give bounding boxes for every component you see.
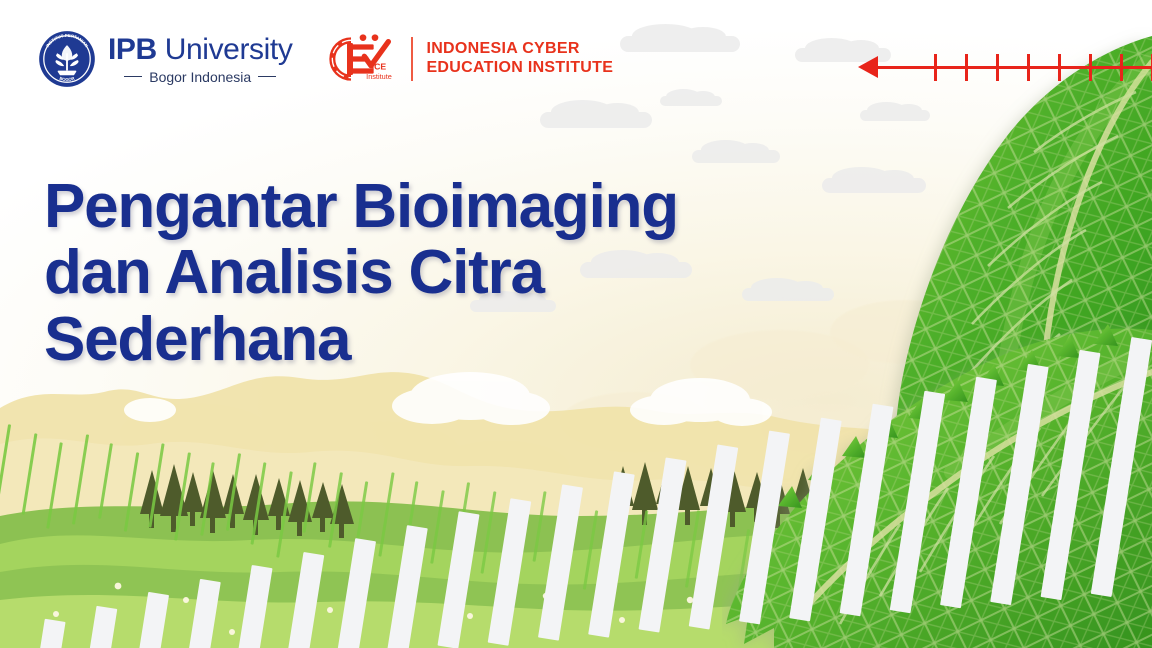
cloud-shape — [540, 112, 652, 128]
ice-mark-label-2: Institute — [367, 72, 393, 81]
ruler-tick — [1027, 54, 1030, 81]
ruler-tick — [965, 54, 968, 81]
ice-wordmark: INDONESIA CYBER EDUCATION INSTITUTE — [426, 40, 613, 77]
leaf-svg — [722, 0, 1152, 648]
title-line-1: Pengantar Bioimaging — [44, 174, 784, 241]
ipb-seal-icon: INSTITUT PERTANIAN BOGOR — [38, 30, 96, 88]
logo-row: INSTITUT PERTANIAN BOGOR IPB University … — [38, 30, 613, 88]
ruler-tick — [1089, 54, 1092, 81]
ipb-university-logo: INSTITUT PERTANIAN BOGOR IPB University … — [38, 30, 292, 88]
ice-name-line1: INDONESIA CYBER — [426, 40, 613, 59]
ruler-line — [872, 66, 1152, 69]
ice-mark-label-1: ICE — [372, 62, 387, 72]
ipb-tagline-row: Bogor Indonesia — [108, 70, 292, 84]
ruler-tick — [1120, 54, 1123, 81]
ipb-name-bold: IPB — [108, 33, 157, 66]
ruler-tick — [934, 54, 937, 81]
ice-name-line2: EDUCATION INSTITUTE — [426, 59, 613, 78]
tagline-rule-left — [124, 76, 142, 78]
course-title-slide: INSTITUT PERTANIAN BOGOR IPB University … — [0, 0, 1152, 648]
title-line-3: Sederhana — [44, 307, 784, 374]
leaf-photo — [722, 0, 1152, 648]
ipb-wordmark: IPB University Bogor Indonesia — [108, 35, 292, 84]
ice-institute-icon: ICE Institute — [324, 31, 398, 87]
ipb-tagline: Bogor Indonesia — [149, 70, 251, 84]
cloud-shape — [660, 96, 722, 106]
ipb-name: IPB University — [108, 35, 292, 65]
title-line-2: dan Analisis Citra — [44, 240, 784, 307]
ipb-name-light: University — [165, 33, 293, 66]
ice-institute-logo: ICE Institute INDONESIA CYBER EDUCATION … — [324, 31, 613, 87]
tagline-rule-right — [258, 76, 276, 78]
ruler-arrow-icon — [858, 52, 1152, 92]
ruler-tick — [1058, 54, 1061, 81]
ice-divider — [411, 37, 413, 81]
ruler-tick — [996, 54, 999, 81]
page-title: Pengantar Bioimaging dan Analisis Citra … — [44, 174, 784, 375]
